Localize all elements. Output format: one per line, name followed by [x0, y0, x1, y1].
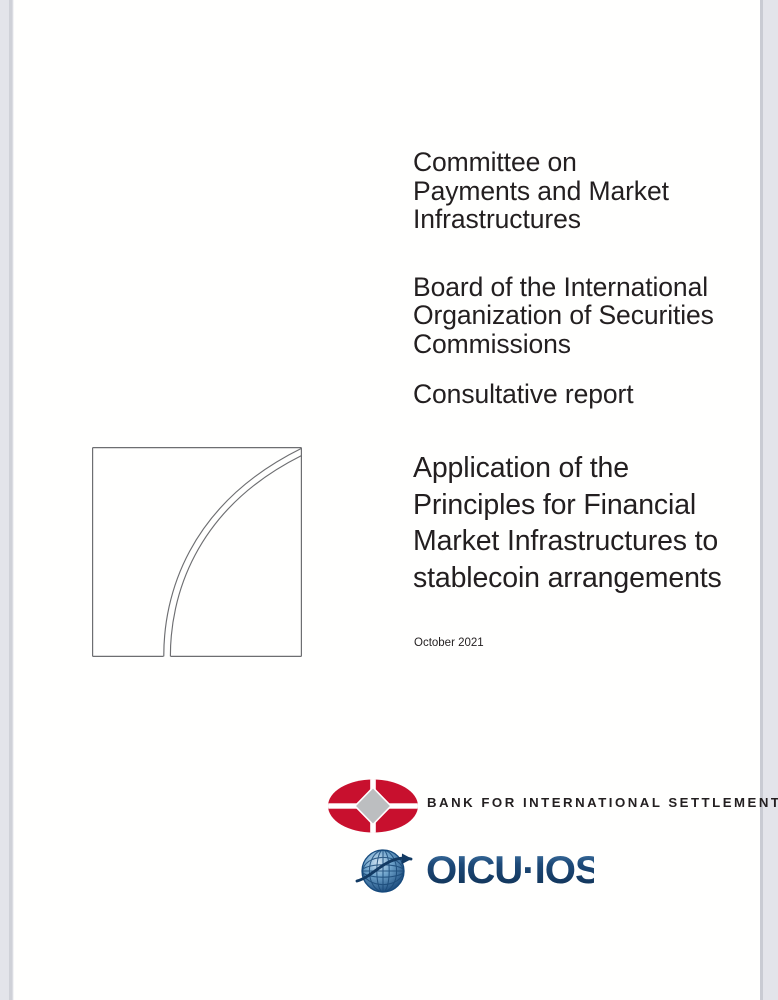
iosco-board-line-3: Commissions: [413, 330, 753, 359]
title-line-4: stablecoin arrangements: [413, 560, 758, 597]
iosco-board-line-1: Board of the International: [413, 273, 753, 302]
bis-ellipse-diamond-icon: [327, 779, 419, 833]
organisation-spacer: [413, 234, 753, 273]
iosco-wordmark-graphic: OICU·IOSCO: [426, 848, 594, 892]
cpmi-line-3: Infrastructures: [413, 205, 753, 234]
bis-wordmark: BANK FOR INTERNATIONAL SETTLEMENTS: [427, 795, 778, 810]
iosco-globe-icon: [354, 845, 414, 897]
cpmi-line-2: Payments and Market: [413, 177, 753, 206]
document-page: Committee on Payments and Market Infrast…: [14, 0, 760, 1000]
issuing-organisations: Committee on Payments and Market Infrast…: [413, 148, 753, 358]
screenshot-viewport: Committee on Payments and Market Infrast…: [0, 0, 778, 1000]
bis-logo: BANK FOR INTERNATIONAL SETTLEMENTS: [327, 779, 757, 833]
iosco-wordmark-text: OICU·IOSCO: [426, 849, 594, 892]
iosco-logo: OICU·IOSCO: [354, 843, 594, 899]
square-with-double-arc-icon: [92, 447, 302, 657]
title-line-3: Market Infrastructures to: [413, 523, 758, 560]
cpmi-line-1: Committee on: [413, 148, 753, 177]
report-type: Consultative report: [413, 379, 753, 409]
cover-graphic: [92, 447, 302, 657]
iosco-board-line-2: Organization of Securities: [413, 301, 753, 330]
title-line-1: Application of the: [413, 450, 758, 487]
document-title: Application of the Principles for Financ…: [413, 450, 758, 596]
title-line-2: Principles for Financial: [413, 487, 758, 524]
report-type-label: Consultative report: [413, 379, 753, 409]
publication-date: October 2021: [414, 636, 484, 650]
